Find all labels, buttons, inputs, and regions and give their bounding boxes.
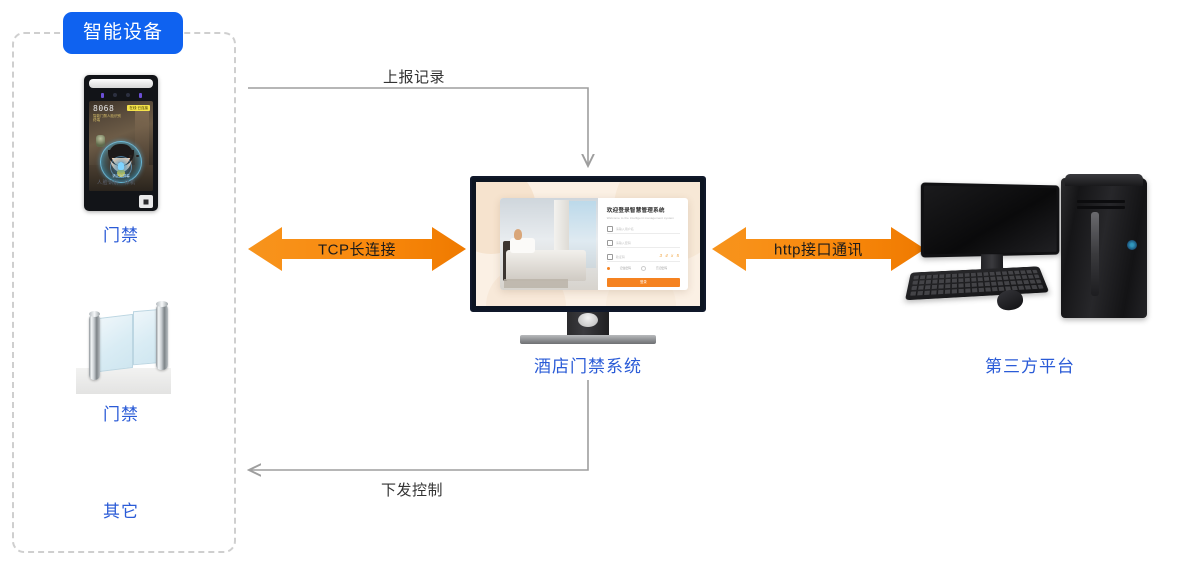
login-subtitle: Welcome to the intelligent management sy…: [607, 216, 680, 220]
desktop-monitor-icon: 欢迎登录智慧管理系统 Welcome to the intelligent ma…: [470, 176, 706, 324]
user-icon: [607, 226, 613, 232]
remember-password-radio[interactable]: [607, 267, 610, 270]
forgot-password-radio[interactable]: [641, 266, 646, 271]
login-title: 欢迎登录智慧管理系统: [607, 207, 680, 215]
lock-icon: [607, 240, 613, 246]
terminal-footer-text: 人脸识别一体机: [97, 179, 136, 186]
hotel-system-label: 酒店门禁系统: [470, 352, 706, 377]
remember-password-label: 记住密码: [620, 267, 631, 270]
connector-label-issue-control: 下发控制: [381, 479, 443, 500]
terminal-device-id: 8068: [93, 105, 123, 113]
smart-device-group-badge: 智能设备: [63, 12, 183, 54]
monitor-stand-base: [520, 335, 656, 344]
captcha-image[interactable]: 3 4 x 5: [659, 253, 680, 258]
password-field[interactable]: 请输入密码: [607, 239, 680, 248]
connector-http-interface: http接口通讯: [712, 221, 925, 277]
face-recognition-terminal-icon: 8068 智能门禁人脸识别终端 在线·已连接 请正对屏幕 人脸识别一体机: [84, 75, 158, 211]
password-placeholder: 请输入密码: [616, 241, 631, 245]
desktop-pc-tower-icon: [905, 178, 1155, 322]
face-terminal-label: 门禁: [84, 221, 158, 246]
gate-label: 门禁: [84, 400, 158, 425]
diagram-canvas: 上报记录 下发控制 智能设备 8068 智能门禁人脸识别终端 在线·已连接: [0, 0, 1196, 580]
shield-icon: [607, 254, 613, 260]
terminal-id-subtitle: 智能门禁人脸识别终端: [93, 114, 123, 122]
connector-report-records: [248, 88, 588, 165]
username-field[interactable]: 请输入用户名: [607, 225, 680, 234]
hotel-login-screen: 欢迎登录智慧管理系统 Welcome to the intelligent ma…: [476, 182, 700, 306]
card-reader-icon: [139, 195, 153, 208]
login-submit-button[interactable]: 登录: [607, 278, 680, 287]
third-party-platform-label: 第三方平台: [905, 352, 1155, 377]
username-placeholder: 请输入用户名: [616, 227, 634, 231]
captcha-placeholder: 验证码: [616, 255, 625, 259]
forgot-password-label: 忘记密码: [656, 267, 667, 270]
terminal-status-tag: 在线·已连接: [127, 105, 150, 111]
connector-tcp-long-connection: TCP长连接: [248, 221, 466, 277]
connector-issue-control: [250, 380, 588, 470]
hotel-room-photo: [500, 198, 598, 290]
other-device-label: 其它: [84, 497, 158, 522]
connector-label-report-records: 上报记录: [383, 66, 445, 87]
connector-label-tcp: TCP长连接: [248, 239, 466, 260]
glass-swing-gate-icon: [76, 296, 171, 394]
connector-label-http: http接口通讯: [712, 239, 925, 260]
